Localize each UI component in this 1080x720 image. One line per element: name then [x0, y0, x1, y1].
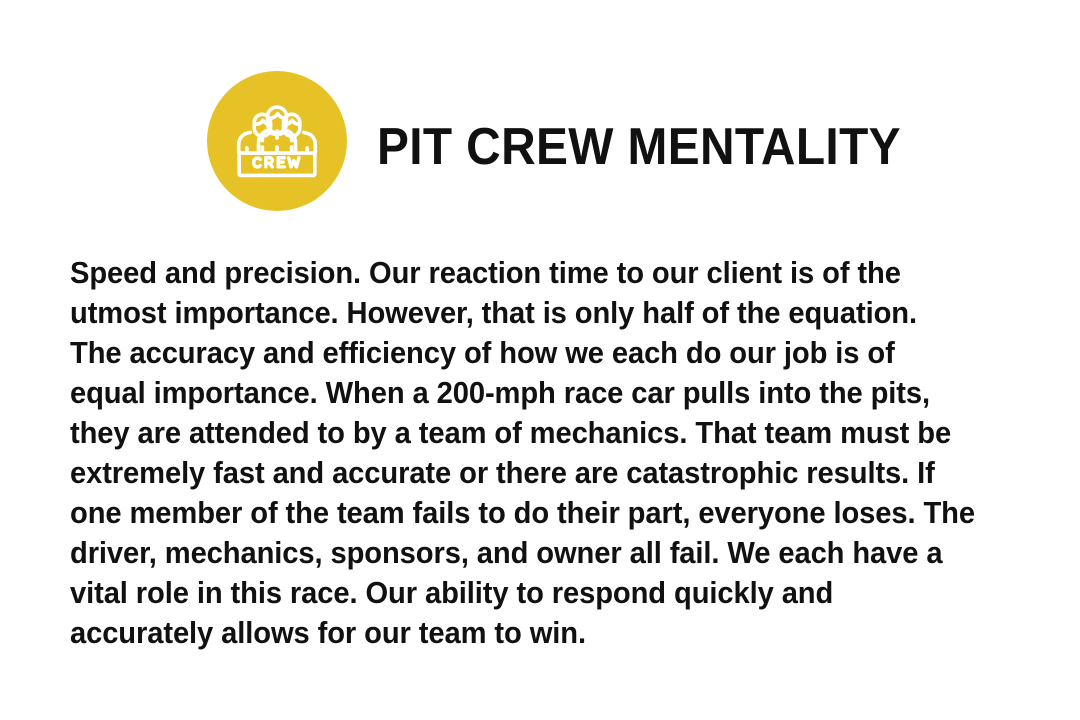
- crew-team-icon: [234, 98, 320, 184]
- crew-badge: [207, 71, 347, 211]
- card-header: PIT CREW MENTALITY: [0, 71, 1080, 211]
- body-paragraph: Speed and precision. Our reaction time t…: [70, 253, 975, 653]
- page-title: PIT CREW MENTALITY: [377, 121, 901, 173]
- value-card: PIT CREW MENTALITY Speed and precision. …: [0, 0, 1080, 720]
